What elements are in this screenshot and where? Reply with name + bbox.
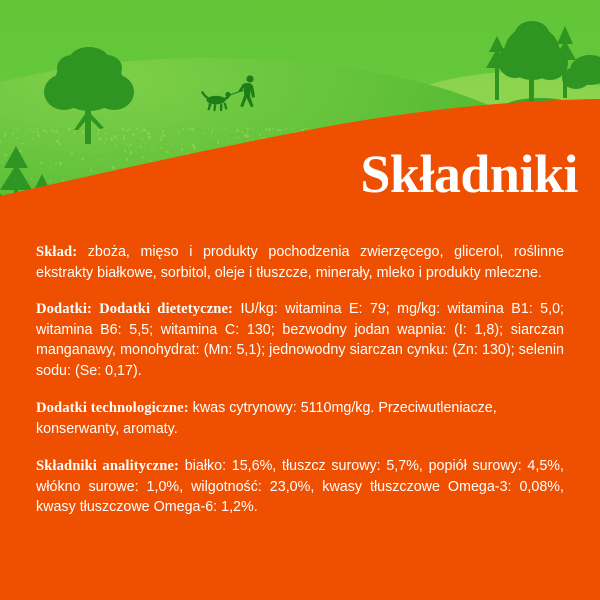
section-label: Dodatki: Dodatki dietetyczne:	[36, 301, 233, 317]
section-paragraph: Skład: zboża, mięso i produkty pochodzen…	[36, 242, 564, 283]
section-label: Dodatki technologiczne:	[36, 400, 189, 416]
section-body: zboża, mięso i produkty pochodzenia zwie…	[36, 244, 564, 281]
section-skladniki-analityczne: Składniki analityczne: białko: 15,6%, tł…	[36, 456, 564, 518]
section-paragraph: Dodatki technologiczne: kwas cytrynowy: …	[36, 398, 564, 439]
section-paragraph: Składniki analityczne: białko: 15,6%, tł…	[36, 456, 564, 518]
page-title: Składniki	[360, 145, 578, 203]
section-label: Skład:	[36, 244, 77, 260]
section-dodatki-technologiczne: Dodatki technologiczne: kwas cytrynowy: …	[36, 398, 564, 439]
section-label: Składniki analityczne:	[36, 458, 179, 474]
section-dodatki: Dodatki: Dodatki dietetyczne: IU/kg: wit…	[36, 299, 564, 381]
ingredients-panel: Składniki Skład: zboża, mięso i produkty…	[0, 0, 600, 600]
conifer-trees-left-icon	[0, 120, 210, 230]
person-walking-dog-icon	[200, 72, 272, 120]
section-paragraph: Dodatki: Dodatki dietetyczne: IU/kg: wit…	[36, 299, 564, 381]
ingredients-text: Skład: zboża, mięso i produkty pochodzen…	[36, 228, 564, 532]
section-sklad: Skład: zboża, mięso i produkty pochodzen…	[36, 242, 564, 283]
